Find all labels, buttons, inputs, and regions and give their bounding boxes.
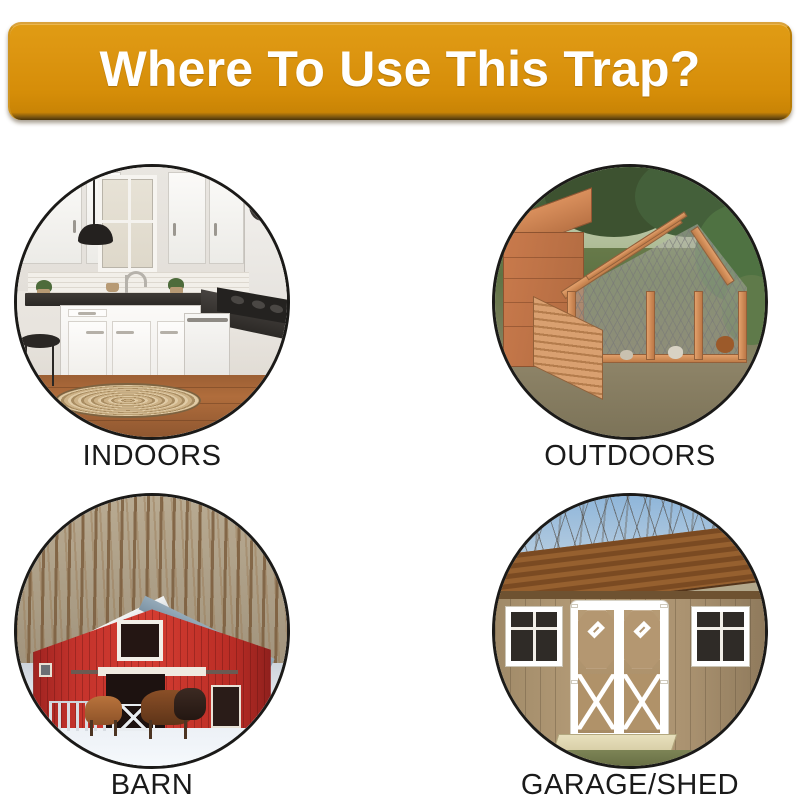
- shed-scene: [495, 496, 765, 766]
- outdoors-photo: [492, 164, 768, 440]
- outdoors-image-holder: [492, 164, 768, 440]
- location-card-barn: BARN: [0, 479, 400, 800]
- header-banner: Where To Use This Trap?: [8, 22, 792, 124]
- barn-photo: [14, 493, 290, 769]
- barn-image-holder: [14, 493, 290, 769]
- indoors-image-holder: [14, 164, 290, 440]
- location-label-garage-shed: GARAGE/SHED: [521, 769, 739, 800]
- garage-shed-image-holder: [492, 493, 768, 769]
- location-label-barn: BARN: [111, 769, 194, 800]
- indoors-photo: [14, 164, 290, 440]
- location-label-indoors: INDOORS: [83, 440, 222, 473]
- location-label-outdoors: OUTDOORS: [544, 440, 716, 473]
- kitchen-scene: [17, 167, 287, 437]
- infographic-page: Where To Use This Trap?: [0, 0, 800, 800]
- page-title: Where To Use This Trap?: [100, 44, 701, 94]
- location-card-outdoors: OUTDOORS: [400, 150, 800, 475]
- location-card-indoors: INDOORS: [0, 150, 400, 475]
- location-card-garage-shed: GARAGE/SHED: [400, 479, 800, 800]
- locations-grid: INDOORS: [0, 150, 800, 800]
- chicken-coop-scene: [495, 167, 765, 437]
- garage-shed-photo: [492, 493, 768, 769]
- red-barn-scene: [17, 496, 287, 766]
- banner-plate: Where To Use This Trap?: [8, 22, 792, 120]
